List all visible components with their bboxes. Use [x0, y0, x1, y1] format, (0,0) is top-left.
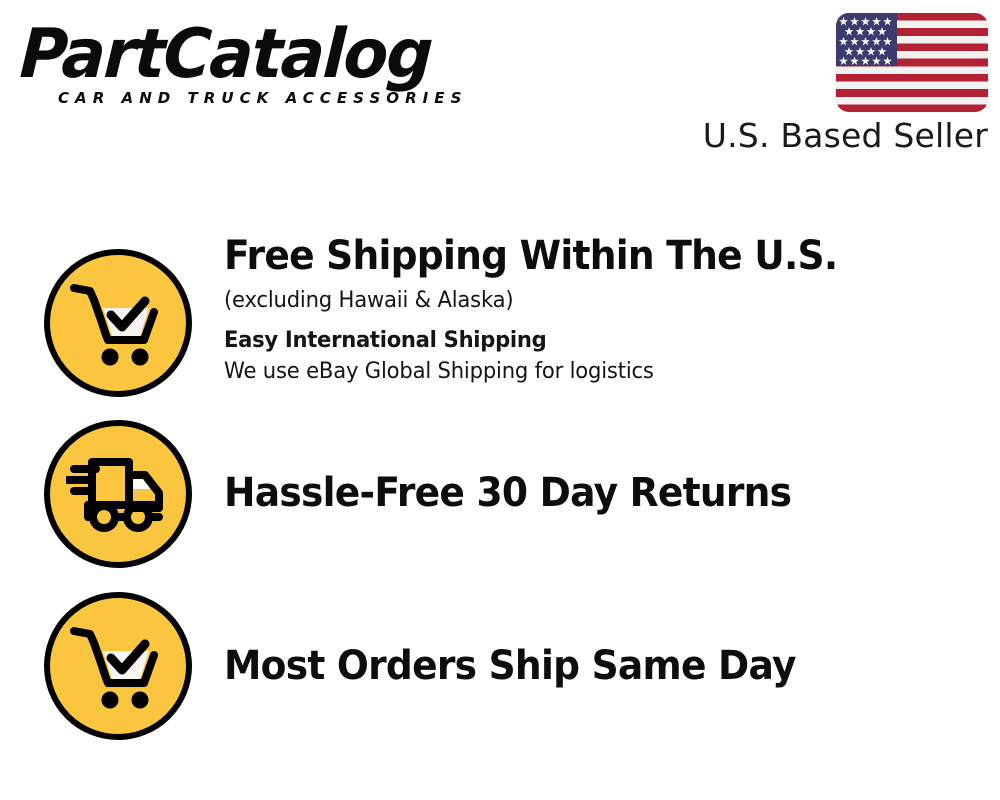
- benefit-title: Hassle-Free 30 Day Returns: [224, 469, 953, 517]
- benefit-row: Hassle-Free 30 Day Returns: [0, 399, 1000, 571]
- brand-tagline: CAR AND TRUCK ACCESSORIES: [58, 89, 467, 107]
- brand-wordmark: PartCatalog: [18, 18, 473, 92]
- benefit-subline-bold: Easy International Shipping: [224, 325, 969, 356]
- page-header: PartCatalog CAR AND TRUCK ACCESSORIES: [0, 0, 1000, 175]
- benefit-title: Most Orders Ship Same Day: [224, 642, 953, 690]
- us-based-seller-label: U.S. Based Seller: [703, 117, 988, 155]
- benefit-row: Most Orders Ship Same Day: [0, 570, 1000, 745]
- shopping-cart-check-icon: [44, 249, 192, 397]
- delivery-truck-icon: [44, 420, 192, 568]
- benefit-subline: We use eBay Global Shipping for logistic…: [224, 356, 969, 387]
- shopping-cart-check-icon: [44, 592, 192, 740]
- benefit-title: Free Shipping Within The U.S.: [224, 232, 953, 280]
- brand-logo[interactable]: PartCatalog CAR AND TRUCK ACCESSORIES: [22, 18, 492, 118]
- flag-canton: [836, 13, 897, 66]
- benefit-subline: (excluding Hawaii & Alaska): [224, 285, 969, 316]
- benefit-text-block: Hassle-Free 30 Day Returns: [224, 399, 1000, 517]
- us-flag-icon: [836, 13, 988, 112]
- benefit-text-block: Free Shipping Within The U.S. (excluding…: [224, 228, 1000, 387]
- benefit-row: Free Shipping Within The U.S. (excluding…: [0, 228, 1000, 400]
- benefit-text-block: Most Orders Ship Same Day: [224, 570, 1000, 690]
